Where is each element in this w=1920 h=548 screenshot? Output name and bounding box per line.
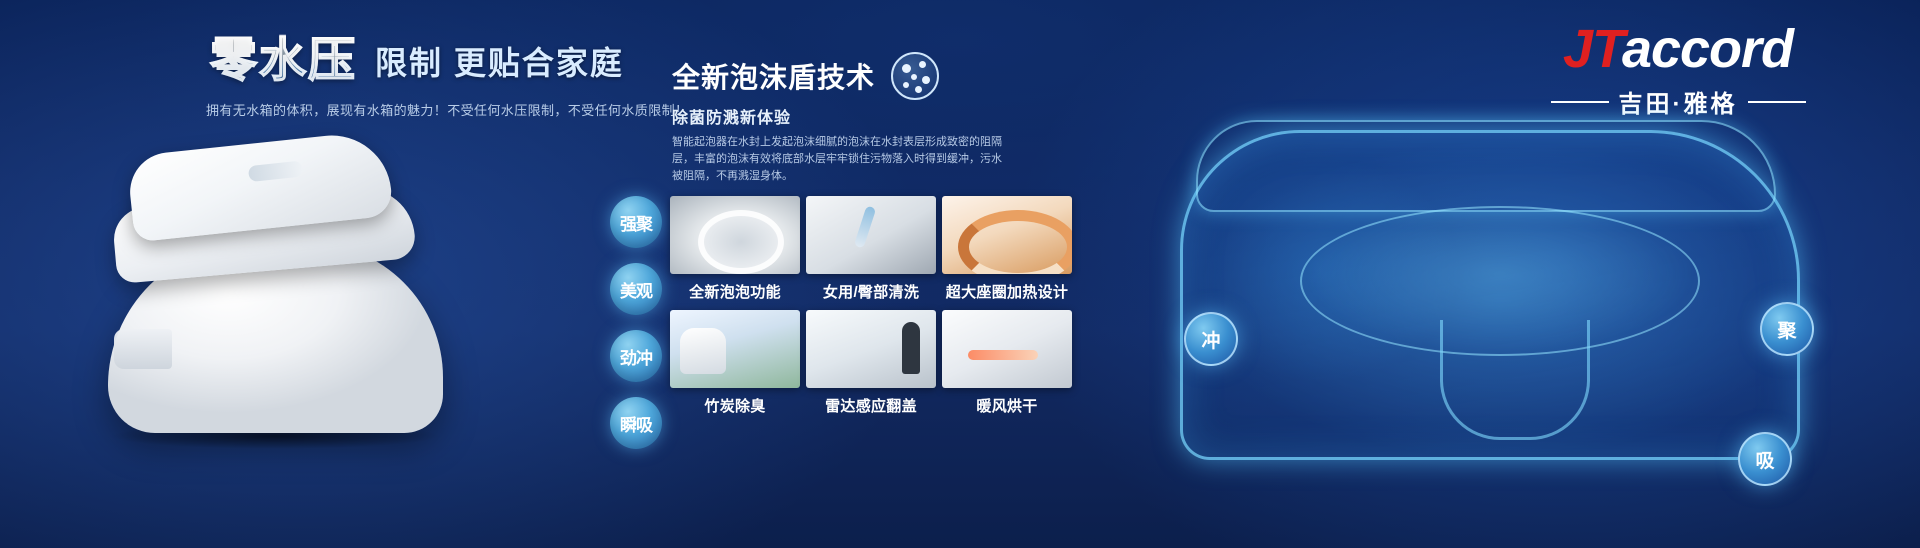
heated-seat-ring-photo [942, 196, 1072, 274]
warm-air-dryer-photo [942, 310, 1072, 388]
radar-sensor-lid-photo [806, 310, 936, 388]
toilet-bowl-foam-photo [670, 196, 800, 274]
feature-tile-grid: 全新泡泡功能 女用/臀部清洗 超大座圈加热设计 竹炭除臭 雷达感应翻盖 暖风烘干 [670, 196, 1090, 416]
center-subtitle: 除菌防溅新体验 [672, 104, 791, 128]
headline: 零水压 限制 更贴合家庭 [210, 36, 624, 83]
feature-badge-list: 强聚 美观 劲冲 瞬吸 [610, 196, 662, 449]
xray-badge-flush[interactable]: 冲 [1184, 312, 1238, 366]
xray-trapway [1440, 320, 1590, 440]
spray-nozzle-photo [806, 196, 936, 274]
brand-logo-accord: accord [1622, 19, 1793, 79]
feature-tile-caption: 全新泡泡功能 [670, 281, 800, 302]
feature-tile[interactable]: 超大座圈加热设计 [942, 196, 1072, 302]
center-title-row: 全新泡沫盾技术 [672, 52, 939, 100]
feature-badge-strong-suction[interactable]: 强聚 [610, 196, 662, 248]
logo-rule-left [1551, 101, 1609, 103]
feature-tile-caption: 竹炭除臭 [670, 395, 800, 416]
brand-logo-jt: JT [1563, 19, 1622, 79]
feature-badge-power-flush[interactable]: 劲冲 [610, 330, 662, 382]
foam-bubble-icon [891, 52, 939, 100]
center-title: 全新泡沫盾技术 [672, 56, 875, 96]
center-body-paragraph: 智能起泡器在水封上发起泡沫细腻的泡沫在水封表层形成致密的阻隔层，丰富的泡沫有效将… [672, 134, 1002, 185]
brand-logo[interactable]: JTaccord 吉田·雅格 [1508, 22, 1848, 119]
brand-logo-latin: JTaccord [1508, 22, 1848, 76]
feature-badge-instant-absorb[interactable]: 瞬吸 [610, 397, 662, 449]
feature-tile-caption: 女用/臀部清洗 [806, 281, 936, 302]
bamboo-charcoal-deodorize-photo [670, 310, 800, 388]
right-panel: JTaccord 吉田·雅格 冲 聚 吸 [1100, 0, 1920, 548]
feature-tile[interactable]: 雷达感应翻盖 [806, 310, 936, 416]
feature-tile[interactable]: 竹炭除臭 [670, 310, 800, 416]
headline-main-text: 零水压 [210, 36, 357, 83]
feature-tile[interactable]: 全新泡泡功能 [670, 196, 800, 302]
xray-lid [1196, 120, 1776, 212]
center-panel: 全新泡沫盾技术 除菌防溅新体验 智能起泡器在水封上发起泡沫细腻的泡沫在水封表层形… [660, 0, 1100, 548]
left-panel: 零水压 限制 更贴合家庭 拥有无水箱的体积，展现有水箱的魅力！不受任何水压限制，… [0, 0, 660, 548]
feature-tile-caption: 超大座圈加热设计 [942, 281, 1072, 302]
toilet-side-panel [114, 329, 172, 369]
smart-toilet-icon [100, 135, 470, 435]
headline-sub-text: 限制 更贴合家庭 [375, 47, 624, 83]
lead-paragraph: 拥有无水箱的体积，展现有水箱的魅力！不受任何水压限制，不受任何水质限制！ [206, 100, 688, 119]
feature-tile-caption: 暖风烘干 [942, 395, 1072, 416]
xray-badge-gather[interactable]: 聚 [1760, 302, 1814, 356]
feature-tile[interactable]: 暖风烘干 [942, 310, 1072, 416]
promo-banner: 零水压 限制 更贴合家庭 拥有无水箱的体积，展现有水箱的魅力！不受任何水压限制，… [0, 0, 1920, 548]
feature-tile-caption: 雷达感应翻盖 [806, 395, 936, 416]
xray-badge-suction[interactable]: 吸 [1738, 432, 1792, 486]
logo-rule-right [1748, 101, 1806, 103]
feature-tile[interactable]: 女用/臀部清洗 [806, 196, 936, 302]
toilet-xray-icon: 冲 聚 吸 [1140, 110, 1840, 490]
feature-badge-beauty[interactable]: 美观 [610, 263, 662, 315]
